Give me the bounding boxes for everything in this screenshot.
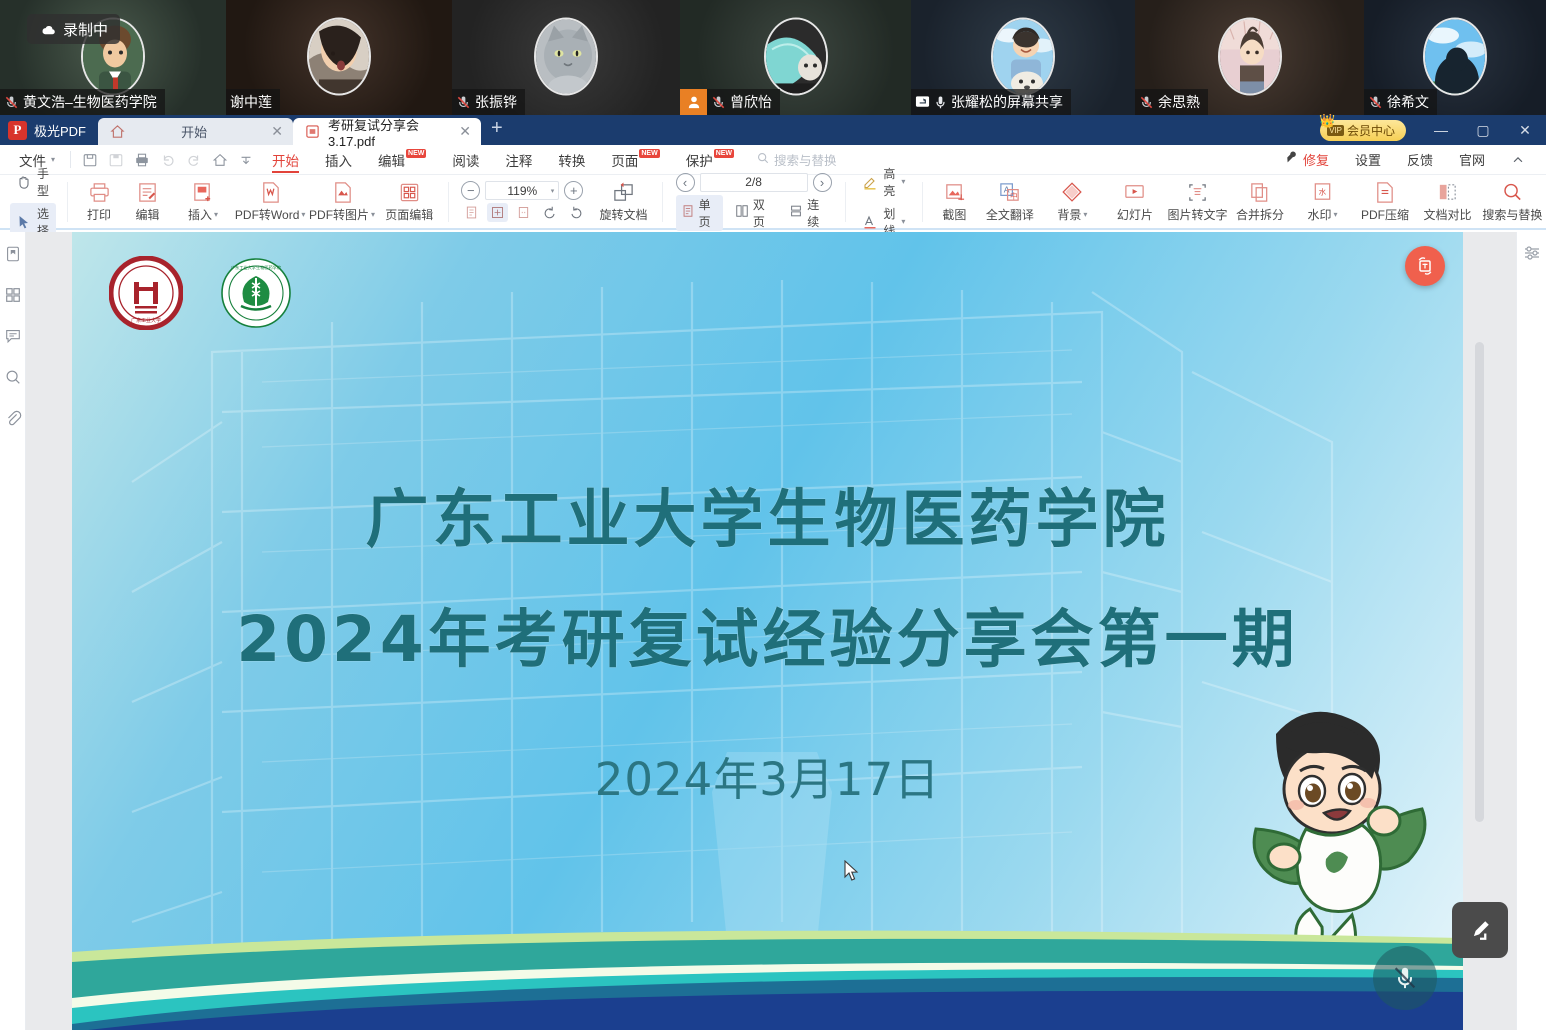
page-edit-label: 页面编辑 — [385, 206, 433, 223]
home-icon — [110, 124, 125, 139]
customize-icon[interactable] — [233, 148, 259, 172]
avatar — [1423, 17, 1487, 95]
tool-mode-group: 手型 选择 — [10, 163, 56, 241]
avatar — [1218, 17, 1282, 95]
logo-row: 广东工业大学 广东工业大学生物医药学院 — [109, 256, 293, 330]
background-button[interactable]: 背景▾ — [1041, 176, 1104, 227]
zoom-level-value: 119% — [507, 184, 537, 198]
hand-icon — [16, 174, 32, 190]
ocr-icon — [1185, 181, 1209, 204]
chevron-down-icon[interactable]: ▾ — [901, 217, 905, 226]
mouse-cursor — [844, 860, 860, 882]
mic-muted-icon — [711, 95, 726, 110]
search-replace-label: 搜索与替换 — [1482, 206, 1542, 223]
settings-button[interactable]: 设置 — [1342, 150, 1394, 169]
menu-tab-page[interactable]: 页面 NEW — [598, 145, 672, 175]
website-button[interactable]: 官网 — [1446, 150, 1498, 169]
double-page-label: 双页 — [753, 196, 772, 230]
translate-button[interactable]: A中 全文翻译 — [979, 176, 1042, 227]
fit-page-icon[interactable] — [487, 203, 508, 222]
right-sidebar — [1516, 232, 1546, 1030]
app-logo-icon: P — [8, 121, 27, 140]
home-icon[interactable] — [207, 148, 233, 172]
slide-title-line1: 广东工业大学生物医药学院 — [72, 460, 1463, 580]
print-icon — [87, 181, 111, 204]
rotate-doc-icon — [612, 181, 636, 204]
continuous-label: 连续 — [807, 196, 826, 230]
participant-name: 张振铧 — [475, 92, 517, 112]
cursor-icon — [16, 214, 32, 230]
slideshow-label: 幻灯片 — [1117, 206, 1153, 223]
chevron-down-icon[interactable]: ▾ — [1083, 210, 1087, 219]
menu-search-box[interactable]: 搜索与替换 — [757, 150, 837, 169]
participant-namebar: 张耀松的屏幕共享 — [911, 89, 1071, 115]
open-folder-icon[interactable] — [77, 148, 103, 172]
pdf-file-icon — [305, 124, 320, 139]
menu-tab-start[interactable]: 开始 — [259, 145, 312, 175]
insert-icon — [191, 181, 215, 204]
menu-bar: 文件 ▾ 开始 插入 编辑 — [0, 145, 1546, 175]
insert-label: 插入 — [188, 206, 212, 223]
participant-tile[interactable]: 曾欣怡 — [680, 0, 911, 115]
minimize-button[interactable]: — — [1420, 115, 1462, 145]
new-tab-button[interactable]: + — [481, 117, 513, 144]
continuous-mode-button[interactable]: 连续 — [784, 195, 831, 231]
menu-tab-label: 编辑 — [378, 150, 405, 170]
menu-tab-label: 开始 — [272, 150, 299, 170]
ribbon-divider — [845, 182, 846, 222]
screenshot-button[interactable]: 截图 — [930, 176, 978, 227]
rotate-right-icon[interactable] — [565, 203, 586, 222]
feedback-label: 反馈 — [1407, 150, 1433, 169]
rotate-document-button[interactable]: 旋转文档 — [592, 176, 655, 227]
slide-title-line2: 2024年考研复试经验分享会第一期 — [72, 580, 1463, 700]
zoom-in-button[interactable]: + — [564, 181, 583, 200]
svg-text:水: 水 — [1319, 186, 1327, 196]
chevron-down-icon[interactable]: ▾ — [1333, 210, 1337, 219]
participant-namebar: 黄文浩–生物医药学院 — [0, 89, 165, 115]
participant-namebar: 谢中莲 — [226, 89, 280, 115]
participant-tile[interactable]: 余思熟 — [1135, 0, 1364, 115]
print-icon[interactable] — [129, 148, 155, 172]
zoom-level-input[interactable]: 119% ▾ — [485, 181, 559, 200]
mic-muted-icon — [1368, 95, 1383, 110]
cloud-icon — [39, 23, 56, 35]
chevron-down-icon[interactable]: ▾ — [214, 210, 218, 219]
vip-center-label: 会员中心 — [1347, 122, 1395, 139]
insert-button[interactable]: 插入▾ — [172, 176, 235, 227]
participant-tile[interactable]: 张振铧 — [452, 0, 680, 115]
title-bar: P 极光PDF 开始 ✕ 考研复试分享会 3.17.pdf ✕ + 👑 VIP — [0, 115, 1546, 145]
avatar — [307, 17, 371, 95]
page-wave-decoration — [72, 912, 1463, 1030]
chevron-down-icon[interactable]: ▾ — [901, 177, 905, 186]
edit-button[interactable]: 编辑 — [123, 176, 171, 227]
menu-tab-annotate[interactable]: 注释 — [492, 145, 545, 175]
thumbnails-icon[interactable] — [3, 285, 23, 305]
hand-tool-label: 手型 — [37, 165, 50, 199]
participant-name: 余思熟 — [1158, 92, 1200, 112]
menu-tab-label: 注释 — [505, 150, 532, 170]
compress-label: PDF压缩 — [1361, 206, 1409, 223]
highlighter-icon — [862, 174, 878, 190]
redo-icon[interactable] — [181, 148, 207, 172]
no-video-badge — [680, 89, 707, 115]
menu-tab-convert[interactable]: 转换 — [545, 145, 598, 175]
page-number-input[interactable]: 2/8 — [700, 173, 808, 192]
bookmark-icon[interactable] — [3, 244, 23, 264]
participant-name: 徐希文 — [1387, 92, 1429, 112]
recording-badge: 录制中 — [27, 14, 120, 44]
svg-text:广东工业大学生物医药学院: 广东工业大学生物医药学院 — [231, 264, 282, 271]
mic-muted-icon — [4, 95, 19, 110]
participant-tile[interactable]: 谢中莲 — [226, 0, 452, 115]
menu-tab-protect[interactable]: 保护 NEW — [673, 145, 747, 175]
feedback-button[interactable]: 反馈 — [1394, 150, 1446, 169]
pdf-to-word-icon — [258, 181, 282, 204]
menu-search-placeholder: 搜索与替换 — [774, 150, 837, 169]
search-replace-button[interactable]: 搜索与替换 — [1479, 176, 1546, 227]
participant-namebar: 徐希文 — [1364, 89, 1437, 115]
menu-tab-label: 插入 — [325, 150, 352, 170]
new-flag-badge: NEW — [639, 149, 659, 158]
watermark-icon: 水 — [1310, 181, 1334, 204]
page-edit-button[interactable]: 页面编辑 — [378, 176, 441, 227]
repair-icon — [1285, 151, 1299, 168]
page-navigation: ‹ 2/8 › 单页 双页 — [676, 173, 832, 231]
repair-label: 修复 — [1303, 150, 1329, 169]
ribbon-divider — [67, 182, 68, 222]
chevron-down-icon[interactable]: ▾ — [551, 187, 555, 195]
translate-label: 全文翻译 — [986, 206, 1034, 223]
compare-icon — [1436, 181, 1460, 204]
zoom-out-button[interactable]: − — [461, 181, 480, 200]
tab-close-icon[interactable]: ✕ — [271, 123, 283, 140]
vertical-scrollbar[interactable] — [1475, 342, 1484, 822]
document-viewport[interactable]: 广东工业大学 广东工业大学生物医药学院 — [26, 232, 1516, 1030]
prev-page-button[interactable]: ‹ — [676, 173, 695, 192]
participant-tile[interactable]: 录制中 黄文浩–生物医药学院 — [0, 0, 226, 115]
tab-home-label: 开始 — [125, 122, 263, 141]
menu-tab-label: 页面 — [611, 150, 638, 170]
continuous-icon — [789, 204, 803, 221]
crown-icon: 👑 — [1319, 113, 1335, 129]
menu-tab-insert[interactable]: 插入 — [312, 145, 365, 175]
mic-muted-icon — [456, 95, 471, 110]
tab-home[interactable]: 开始 ✕ — [98, 118, 293, 145]
pdf-to-image-button[interactable]: PDF转图片▾ — [306, 176, 378, 227]
avatar — [991, 17, 1055, 95]
actual-size-icon[interactable] — [513, 203, 534, 222]
annotate-pencil-button[interactable] — [1452, 902, 1508, 958]
compare-button[interactable]: 文档对比 — [1416, 176, 1479, 227]
background-label: 背景 — [1057, 206, 1081, 223]
edit-label: 编辑 — [135, 206, 159, 223]
attachment-icon[interactable] — [3, 408, 23, 428]
left-sidebar — [0, 232, 26, 1030]
compress-button[interactable]: PDF压缩 — [1354, 176, 1417, 227]
maximize-button[interactable]: ▢ — [1462, 115, 1504, 145]
svg-text:中: 中 — [1010, 190, 1018, 200]
participant-namebar: 余思熟 — [1135, 89, 1208, 115]
pdf-to-image-icon — [330, 181, 354, 204]
participant-name: 谢中莲 — [230, 92, 272, 112]
video-participant-strip: 录制中 黄文浩–生物医药学院 — [0, 0, 1546, 115]
app-brand-label: 极光PDF — [34, 121, 86, 140]
ribbon-divider — [448, 182, 449, 222]
screenshot-label: 截图 — [942, 206, 966, 223]
print-label: 打印 — [87, 206, 111, 223]
pdf-application-window: P 极光PDF 开始 ✕ 考研复试分享会 3.17.pdf ✕ + 👑 VIP — [0, 115, 1546, 1030]
highlight-label: 高亮 — [883, 165, 896, 199]
search-icon — [757, 152, 769, 167]
double-page-icon — [735, 204, 749, 221]
ribbon-toolbar: 手型 选择 打印 编辑 插入▾ — [0, 175, 1546, 230]
participant-namebar: 张振铧 — [452, 89, 525, 115]
chevron-up-icon[interactable] — [1498, 153, 1538, 167]
menu-tab-edit[interactable]: 编辑 NEW — [365, 145, 439, 175]
slideshow-icon — [1123, 181, 1147, 204]
participant-namebar: 曾欣怡 — [707, 89, 780, 115]
undo-icon[interactable] — [155, 148, 181, 172]
pdf-to-word-button[interactable]: PDF转Word▾ — [234, 176, 306, 227]
underline-icon — [862, 214, 878, 230]
hand-tool-button[interactable]: 手型 — [10, 163, 56, 201]
translate-icon: A中 — [998, 181, 1022, 204]
single-page-mode-button[interactable]: 单页 — [676, 195, 723, 231]
screen-share-icon — [915, 95, 930, 109]
watermark-label: 水印 — [1307, 206, 1331, 223]
print-button[interactable]: 打印 — [75, 176, 123, 227]
repair-button[interactable]: 修复 — [1272, 150, 1342, 169]
mic-muted-icon — [1139, 95, 1154, 110]
chevron-down-icon[interactable]: ▾ — [301, 210, 305, 219]
document-workspace: 广东工业大学 广东工业大学生物医药学院 — [0, 232, 1546, 1030]
merge-split-button[interactable]: 合并拆分 — [1229, 176, 1292, 227]
double-page-mode-button[interactable]: 双页 — [730, 195, 777, 231]
merge-split-label: 合并拆分 — [1236, 206, 1284, 223]
website-label: 官网 — [1459, 150, 1485, 169]
search-icon[interactable] — [3, 367, 23, 387]
menu-divider — [70, 151, 71, 168]
recording-label: 录制中 — [63, 19, 108, 40]
compare-label: 文档对比 — [1424, 206, 1472, 223]
page-number-value: 2/8 — [745, 175, 762, 189]
convert-float-button[interactable] — [1405, 246, 1445, 286]
zoom-controls: − 119% ▾ + — [461, 181, 586, 222]
edit-doc-icon — [135, 181, 159, 204]
sliders-icon[interactable] — [1523, 244, 1541, 262]
rotate-left-icon[interactable] — [539, 203, 560, 222]
college-logo: 广东工业大学生物医药学院 — [219, 256, 293, 330]
single-page-label: 单页 — [699, 196, 718, 230]
comment-icon[interactable] — [3, 326, 23, 346]
tab-document[interactable]: 考研复试分享会 3.17.pdf ✕ — [293, 118, 481, 145]
close-button[interactable]: ✕ — [1504, 115, 1546, 145]
svg-text:广东工业大学: 广东工业大学 — [131, 317, 161, 324]
search-replace-icon — [1500, 181, 1524, 204]
screenshot-icon — [942, 181, 966, 204]
background-icon — [1060, 181, 1084, 204]
menu-tab-label: 阅读 — [452, 150, 479, 170]
slideshow-button[interactable]: 幻灯片 — [1104, 176, 1167, 227]
pdf-to-word-label: PDF转Word — [235, 206, 299, 223]
mic-muted-float-button[interactable] — [1373, 946, 1437, 1010]
merge-split-icon — [1248, 181, 1272, 204]
compress-icon — [1373, 181, 1397, 204]
page-edit-icon — [397, 181, 421, 204]
pdf-page[interactable]: 广东工业大学 广东工业大学生物医药学院 — [72, 232, 1463, 1030]
participant-tile[interactable]: 徐希文 — [1364, 0, 1546, 115]
vip-center-button[interactable]: 👑 VIP 会员中心 — [1320, 120, 1406, 141]
watermark-button[interactable]: 水 水印▾ — [1291, 176, 1354, 227]
tab-close-icon[interactable]: ✕ — [459, 123, 471, 140]
app-brand: P 极光PDF — [0, 115, 98, 145]
participant-name: 张耀松的屏幕共享 — [951, 92, 1063, 112]
new-flag-badge: NEW — [406, 149, 426, 158]
menu-tab-read[interactable]: 阅读 — [439, 145, 492, 175]
ribbon-divider — [662, 182, 663, 222]
ocr-button[interactable]: 图片转文字 — [1166, 176, 1229, 227]
university-logo: 广东工业大学 — [109, 256, 183, 330]
mic-icon — [934, 95, 947, 110]
next-page-button[interactable]: › — [813, 173, 832, 192]
menu-tab-label: 转换 — [558, 150, 585, 170]
pdf-to-image-label: PDF转图片 — [309, 206, 369, 223]
settings-label: 设置 — [1355, 150, 1381, 169]
new-flag-badge: NEW — [714, 149, 734, 158]
single-page-icon — [681, 204, 695, 221]
menu-right-group: 修复 设置 反馈 官网 — [1272, 150, 1546, 169]
participant-name: 曾欣怡 — [730, 92, 772, 112]
save-icon[interactable] — [103, 148, 129, 172]
ribbon-divider — [922, 182, 923, 222]
avatar — [764, 17, 828, 95]
participant-name: 黄文浩–生物医药学院 — [23, 92, 157, 112]
chevron-down-icon[interactable]: ▾ — [371, 210, 375, 219]
avatar — [534, 17, 598, 95]
menu-tab-label: 保护 — [686, 150, 713, 170]
tab-document-label: 考研复试分享会 3.17.pdf — [328, 115, 451, 149]
rotate-document-label: 旋转文档 — [600, 206, 648, 223]
fit-width-icon[interactable] — [461, 203, 482, 222]
highlight-button[interactable]: 高亮 ▾ — [856, 163, 911, 201]
annotation-group: 高亮 ▾ 划线 ▾ — [856, 163, 911, 241]
participant-tile-active[interactable]: 张耀松的屏幕共享 — [911, 0, 1135, 115]
ocr-label: 图片转文字 — [1167, 206, 1227, 223]
